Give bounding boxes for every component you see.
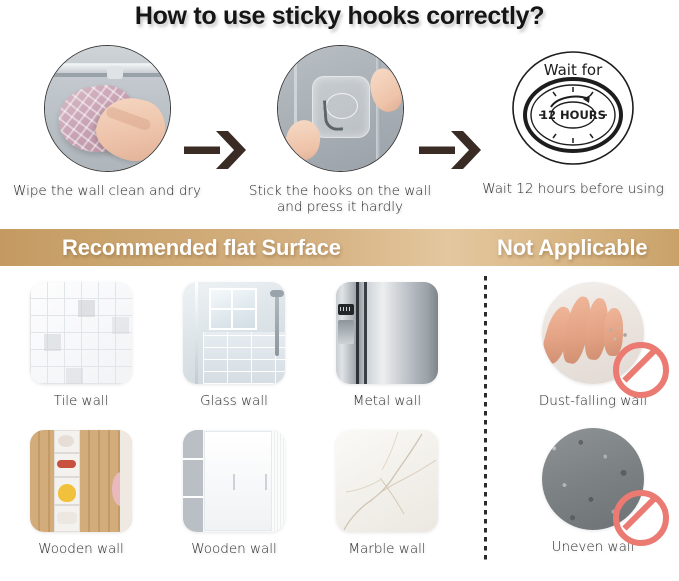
wooden-wall-swatch [30,430,132,532]
page-title: How to use sticky hooks correctly? [0,2,679,31]
surface-item-tile: Tile wall [6,282,156,409]
tile-wall-swatch [30,282,132,384]
surface-item-cabinet: Wooden wall [159,430,309,557]
clock-center-label: 12 HOURS [540,108,606,122]
surface-item-glass: Glass wall [159,282,309,409]
recommended-banner-label: Recommended flat Surface [62,235,341,261]
step-wait: 12 HOURS Wait for Wait 12 hours before u… [478,45,668,197]
surface-label: Wooden wall [159,541,309,557]
infographic-page: How to use sticky hooks correctly? Wipe … [0,0,679,581]
surface-item-uneven: Uneven wall [518,428,668,555]
step-caption: Wipe the wall clean and dry [12,183,202,199]
prohibition-sign-icon [613,490,669,546]
surface-label: Marble wall [312,541,462,557]
glass-wall-swatch [183,282,285,384]
arrow-right-icon [182,129,248,171]
surface-label: Metal wall [312,393,462,409]
surface-item-marble: Marble wall [312,430,462,557]
wipe-wall-photo [44,45,171,172]
clock-illustration: 12 HOURS Wait for [511,45,636,170]
step-stick: Stick the hooks on the wall and press it… [245,45,435,215]
rail-knob [107,66,123,79]
surface-item-wooden: Wooden wall [6,430,156,557]
step-caption: Wait 12 hours before using [478,181,668,197]
surface-label: Glass wall [159,393,309,409]
finger-top [365,65,403,116]
step-wipe: Wipe the wall clean and dry [12,45,202,199]
steps-section: Wipe the wall clean and dry Stick the ho… [0,45,679,215]
surface-label: Wooden wall [6,541,156,557]
prohibition-sign-icon [613,342,669,398]
stick-hook-photo [277,45,404,172]
marble-wall-swatch [336,430,438,532]
white-cabinet-swatch [183,430,285,532]
not-applicable-banner-label: Not Applicable [497,235,647,261]
section-banner: Recommended flat Surface Not Applicable [0,229,679,266]
column-divider [484,276,487,561]
step-caption: Stick the hooks on the wall and press it… [245,183,435,215]
arrow-right-icon [417,129,483,171]
surface-item-metal: Metal wall [312,282,462,409]
surface-label: Tile wall [6,393,156,409]
metal-wall-swatch [336,282,438,384]
clock-top-label: Wait for [543,61,602,79]
surface-item-dust: Dust-falling wall [518,282,668,409]
